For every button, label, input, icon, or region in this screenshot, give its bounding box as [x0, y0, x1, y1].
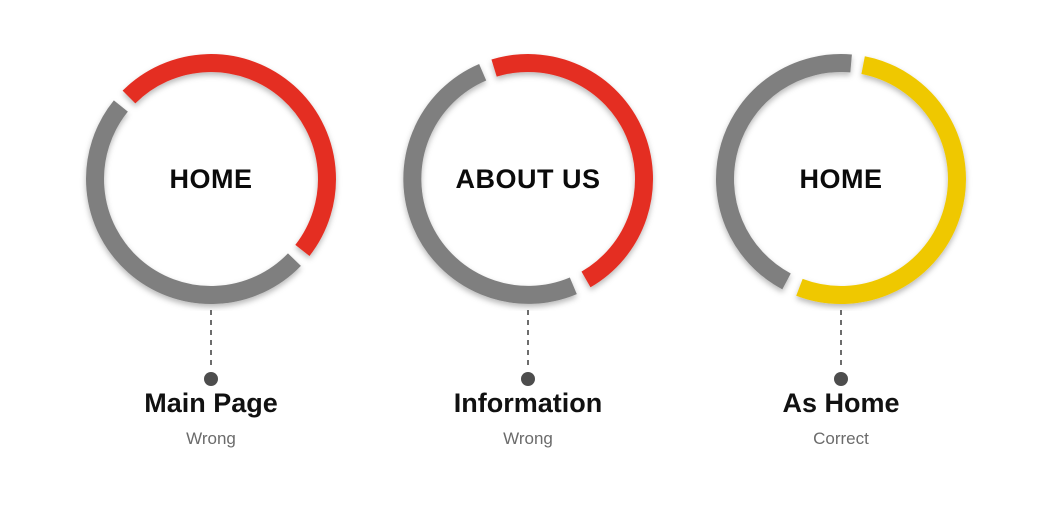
caption-status-3: Correct [676, 428, 1006, 450]
donut-chart-3: HOME [709, 47, 973, 311]
donut-segment-accent-2 [494, 63, 644, 279]
caption-status-1: Wrong [46, 428, 376, 450]
donut-svg-3 [709, 47, 973, 311]
connector-dot-3 [834, 372, 848, 386]
donut-chart-1: HOME [79, 47, 343, 311]
caption-title-1: Main Page [46, 386, 376, 420]
donut-svg-2 [396, 47, 660, 311]
donut-svg-1 [79, 47, 343, 311]
caption-status-2: Wrong [363, 428, 693, 450]
caption-block-3: As Home Correct [676, 386, 1006, 450]
caption-block-2: Information Wrong [363, 386, 693, 450]
donut-segment-track-2 [412, 72, 573, 295]
ring-item-2: ABOUT US Information Wrong [363, 0, 693, 514]
ring-item-1: HOME Main Page Wrong [46, 0, 376, 514]
donut-segment-track-3 [725, 63, 851, 281]
caption-block-1: Main Page Wrong [46, 386, 376, 450]
connector-dot-1 [204, 372, 218, 386]
donut-segment-accent-1 [129, 63, 327, 250]
connector-dashed-line-2 [527, 310, 529, 368]
connector-3 [833, 310, 849, 386]
donut-segment-accent-3 [799, 65, 957, 295]
connector-2 [520, 310, 536, 386]
caption-title-3: As Home [676, 386, 1006, 420]
caption-title-2: Information [363, 386, 693, 420]
connector-1 [203, 310, 219, 386]
connector-dashed-line-3 [840, 310, 842, 368]
donut-segment-track-1 [95, 106, 294, 295]
connector-dot-2 [521, 372, 535, 386]
connector-dashed-line-1 [210, 310, 212, 368]
donut-chart-2: ABOUT US [396, 47, 660, 311]
ring-item-3: HOME As Home Correct [676, 0, 1006, 514]
infographic-canvas: HOME Main Page Wrong [0, 0, 1055, 514]
